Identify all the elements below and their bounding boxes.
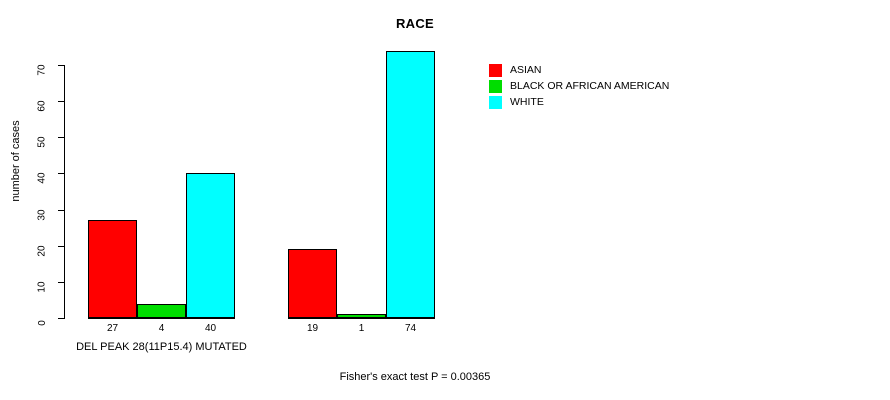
- y-axis-tick: [58, 210, 65, 211]
- legend-item[interactable]: WHITE: [489, 94, 669, 110]
- legend-item[interactable]: BLACK OR AFRICAN AMERICAN: [489, 78, 669, 94]
- legend-item-label: ASIAN: [510, 64, 542, 76]
- group-baseline: [288, 318, 435, 319]
- y-axis-tick-label: 50: [34, 131, 52, 143]
- y-axis-tick-label: 70: [34, 59, 52, 71]
- y-axis-tick: [58, 65, 65, 66]
- bar[interactable]: [288, 249, 337, 318]
- bar-value-label: 27: [88, 322, 137, 336]
- y-axis-tick-label: 40: [34, 167, 52, 179]
- bar-value-label: 74: [386, 322, 435, 336]
- bar-value-label: 4: [137, 322, 186, 336]
- group-label: DEL PEAK 28(11P15.4) MUTATED: [58, 340, 265, 354]
- footer-annotation: Fisher's exact test P = 0.00365: [0, 371, 860, 383]
- y-axis-tick: [58, 101, 65, 102]
- bar[interactable]: [337, 314, 386, 318]
- y-axis-tick: [58, 137, 65, 138]
- y-axis-tick: [58, 173, 65, 174]
- y-axis-title: number of cases: [10, 101, 22, 221]
- y-axis-tick: [58, 246, 65, 247]
- legend-item[interactable]: ASIAN: [489, 62, 669, 78]
- bar-value-label: 40: [186, 322, 235, 336]
- legend-item-label: WHITE: [510, 96, 544, 108]
- bar-value-label: 1: [337, 322, 386, 336]
- legend-color-swatch: [489, 80, 502, 93]
- y-axis-tick-label: 30: [34, 204, 52, 216]
- legend-color-swatch: [489, 64, 502, 77]
- legend-item-label: BLACK OR AFRICAN AMERICAN: [510, 80, 669, 92]
- bar[interactable]: [386, 51, 435, 318]
- plot-area: number of cases 010203040506070 27440DEL…: [0, 0, 470, 400]
- legend-color-swatch: [489, 96, 502, 109]
- y-axis-tick-label: 60: [34, 95, 52, 107]
- chart-canvas: RACE number of cases 010203040506070 274…: [0, 0, 890, 400]
- y-axis-tick-label: 20: [34, 240, 52, 252]
- y-axis-tick-label: 0: [34, 312, 52, 324]
- y-axis-tick-label: 10: [34, 276, 52, 288]
- bar[interactable]: [137, 304, 186, 318]
- bar[interactable]: [88, 220, 137, 318]
- legend: ASIANBLACK OR AFRICAN AMERICANWHITE: [489, 62, 669, 110]
- y-axis-tick: [58, 282, 65, 283]
- y-axis-tick: [58, 318, 65, 319]
- group-baseline: [88, 318, 235, 319]
- bar-value-label: 19: [288, 322, 337, 336]
- bar[interactable]: [186, 173, 235, 318]
